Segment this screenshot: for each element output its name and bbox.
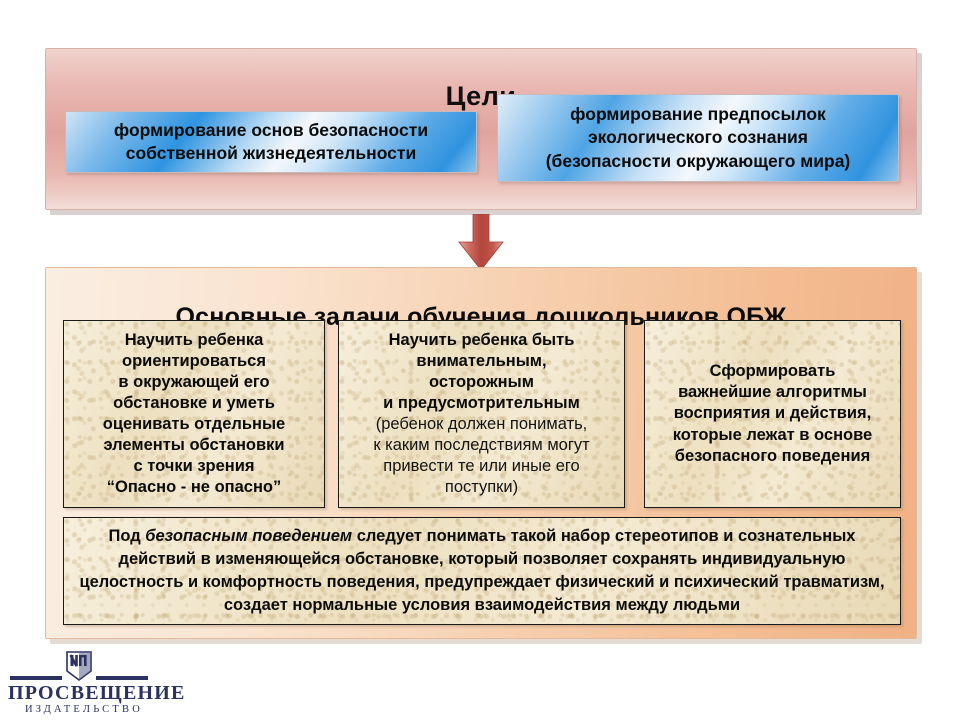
goal-line: экологического сознания: [508, 126, 888, 149]
task-line: “Опасно - не опасно”: [70, 477, 318, 498]
task-box-algorithms: Сформировать важнейшие алгоритмы восприя…: [644, 320, 901, 508]
goal-line: формирование основ безопасности: [76, 119, 466, 142]
goals-panel: Цели формирование основ безопасности соб…: [45, 48, 917, 210]
tasks-panel: Основные задачи обучения дошкольников ОБ…: [45, 267, 917, 639]
task-line: привести те или иные его: [345, 456, 618, 477]
task-line: в окружающей его: [70, 372, 318, 393]
task-line: оценивать отдельные: [70, 414, 318, 435]
goal-line: (безопасности окружающего мира): [508, 150, 888, 173]
task-line: обстановке и уметь: [70, 393, 318, 414]
down-arrow-icon: [455, 214, 507, 270]
task-line: которые лежат в основе: [651, 425, 894, 446]
publisher-shield-icon: [66, 651, 92, 681]
definition-term: безопасным поведением: [145, 527, 352, 545]
task-line: Научить ребенка быть: [345, 330, 618, 351]
publisher-name: ПРОСВЕЩЕНИЕ: [8, 682, 160, 705]
goal-box-safety-basics-lines: формирование основ безопасности собствен…: [76, 119, 466, 166]
goal-box-ecological-awareness-lines: формирование предпосылок экологического …: [508, 103, 888, 173]
task-line: безопасного поведения: [651, 446, 894, 467]
task-line: восприятия и действия,: [651, 403, 894, 424]
task-box-orientation: Научить ребенка ориентироваться в окружа…: [63, 320, 325, 508]
safe-behaviour-definition-text: Под безопасным поведением следует понима…: [78, 525, 886, 616]
logo-rule-right: [96, 676, 148, 680]
goal-box-safety-basics: формирование основ безопасности собствен…: [65, 111, 477, 173]
task-line: к каким последствиям могут: [345, 435, 618, 456]
task-line: с точки зрения: [70, 456, 318, 477]
logo-rule-left: [10, 676, 62, 680]
task-box-attentiveness: Научить ребенка быть внимательным, остор…: [338, 320, 625, 508]
goal-line: собственной жизнедеятельности: [76, 142, 466, 165]
task-line: и предусмотрительным: [345, 393, 618, 414]
task-line: осторожным: [345, 372, 618, 393]
task-line: внимательным,: [345, 351, 618, 372]
publisher-logo: ПРОСВЕЩЕНИЕ ИЗДАТЕЛЬСТВО: [8, 651, 183, 715]
task-line: поступки): [345, 477, 618, 498]
goal-line: формирование предпосылок: [508, 103, 888, 126]
safe-behaviour-definition-box: Под безопасным поведением следует понима…: [63, 517, 901, 625]
task-line: Научить ребенка: [70, 330, 318, 351]
task-line: ориентироваться: [70, 351, 318, 372]
task-line: (ребенок должен понимать,: [345, 414, 618, 435]
definition-lead: Под: [109, 527, 146, 545]
task-line: элементы обстановки: [70, 435, 318, 456]
task-line: важнейшие алгоритмы: [651, 382, 894, 403]
task-line: Сформировать: [651, 361, 894, 382]
publisher-subtitle: ИЗДАТЕЛЬСТВО: [8, 704, 160, 715]
goal-box-ecological-awareness: формирование предпосылок экологического …: [497, 94, 899, 182]
